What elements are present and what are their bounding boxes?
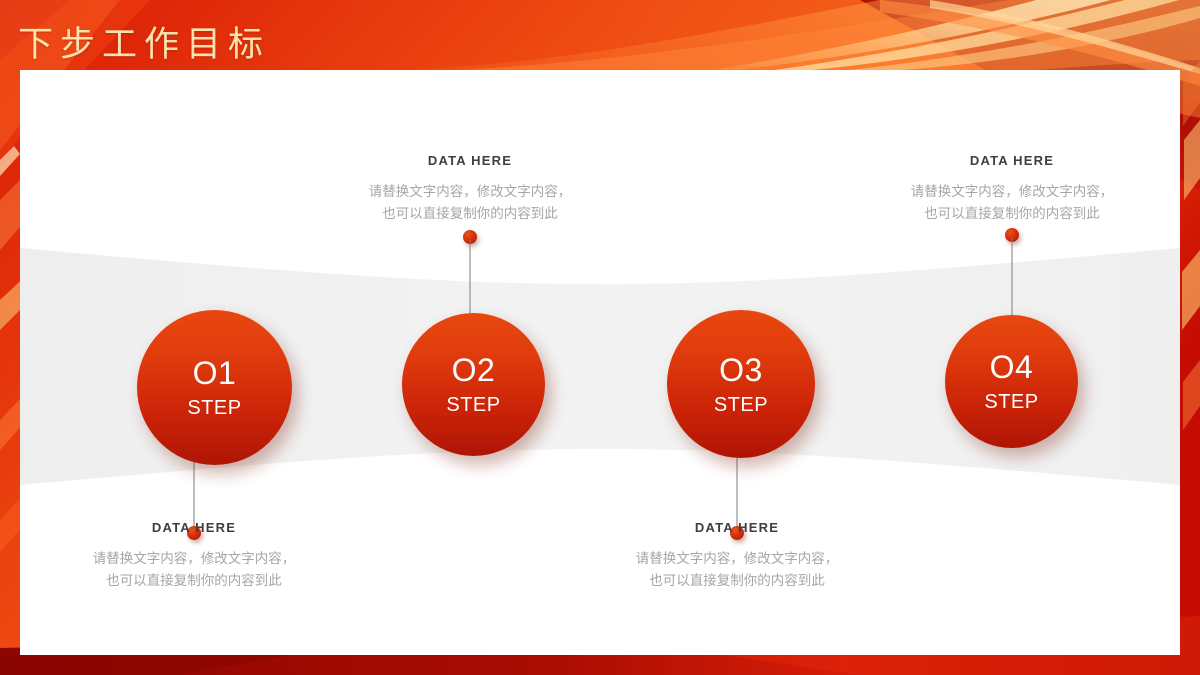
entry-text-3: DATA HERE 请替换文字内容，修改文字内容， 也可以直接复制你的内容到此: [607, 520, 867, 592]
entry-heading: DATA HERE: [882, 153, 1142, 168]
entry-heading: DATA HERE: [607, 520, 867, 535]
step-number: O4: [990, 351, 1034, 383]
step-circle-2[interactable]: O2 STEP: [402, 313, 545, 456]
step-circle-4[interactable]: O4 STEP: [945, 315, 1078, 448]
entry-text-2: DATA HERE 请替换文字内容，修改文字内容， 也可以直接复制你的内容到此: [340, 153, 600, 225]
step-label: STEP: [714, 395, 768, 415]
step-label: STEP: [187, 398, 241, 418]
step-label: STEP: [984, 392, 1038, 412]
entry-text-1: DATA HERE 请替换文字内容，修改文字内容， 也可以直接复制你的内容到此: [64, 520, 324, 592]
entry-line-2: 也可以直接复制你的内容到此: [882, 203, 1142, 225]
entry-heading: DATA HERE: [64, 520, 324, 535]
slide: 下步工作目标: [0, 0, 1200, 675]
entry-line-1: 请替换文字内容，修改文字内容，: [882, 181, 1142, 203]
entry-text-4: DATA HERE 请替换文字内容，修改文字内容， 也可以直接复制你的内容到此: [882, 153, 1142, 225]
entry-line-2: 也可以直接复制你的内容到此: [607, 570, 867, 592]
entry-line-1: 请替换文字内容，修改文字内容，: [607, 548, 867, 570]
step-label: STEP: [446, 395, 500, 415]
content-card: O1 STEP O2 STEP O3 STEP O4 STEP DATA HER…: [20, 70, 1180, 655]
entry-line-1: 请替换文字内容，修改文字内容，: [340, 181, 600, 203]
entry-heading: DATA HERE: [340, 153, 600, 168]
step-circle-1[interactable]: O1 STEP: [137, 310, 292, 465]
page-title: 下步工作目标: [18, 16, 270, 67]
step-circle-3[interactable]: O3 STEP: [667, 310, 815, 458]
step-number: O2: [452, 354, 496, 386]
entry-line-2: 也可以直接复制你的内容到此: [64, 570, 324, 592]
step-number: O1: [193, 357, 237, 389]
entry-line-2: 也可以直接复制你的内容到此: [340, 203, 600, 225]
entry-line-1: 请替换文字内容，修改文字内容，: [64, 548, 324, 570]
step-number: O3: [719, 354, 763, 386]
